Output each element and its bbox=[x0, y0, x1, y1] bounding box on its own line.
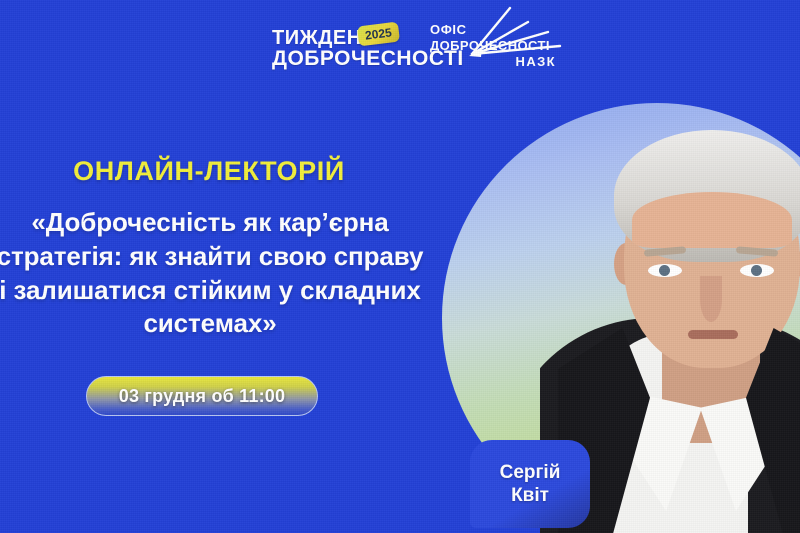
event-title-line-2: стратегія: як знайти свою справу bbox=[0, 240, 466, 274]
promo-banner: ТИЖДЕНЬ ДОБРОЧЕСНОСТІ 2025 ОФІС ДОБРОЧЕС… bbox=[0, 0, 800, 533]
event-date-text: 03 грудня об 11:00 bbox=[119, 386, 285, 407]
event-kicker: ОНЛАЙН-ЛЕКТОРІЙ bbox=[0, 156, 418, 187]
eye-right bbox=[740, 264, 774, 277]
hair bbox=[614, 130, 800, 262]
speaker-name-card: Сергій Квіт bbox=[470, 440, 590, 528]
eye-left bbox=[648, 264, 682, 277]
rays-icon bbox=[466, 6, 576, 58]
event-title-line-3: і залишатися стійким у складних bbox=[0, 274, 466, 308]
event-title: «Доброчесність як кар’єрна стратегія: як… bbox=[0, 206, 466, 341]
event-title-line-4: системах» bbox=[0, 307, 466, 341]
event-title-line-1: «Доброчесність як кар’єрна bbox=[0, 206, 466, 240]
speaker-first-name: Сергій bbox=[500, 461, 561, 484]
integrity-office-logo: ОФІС ДОБРОЧЕСНОСТІ НАЗК bbox=[430, 22, 560, 102]
event-date-badge: 03 грудня об 11:00 bbox=[86, 376, 318, 416]
nose bbox=[700, 276, 722, 322]
mouth bbox=[688, 330, 738, 339]
speaker-last-name: Квіт bbox=[511, 484, 549, 507]
